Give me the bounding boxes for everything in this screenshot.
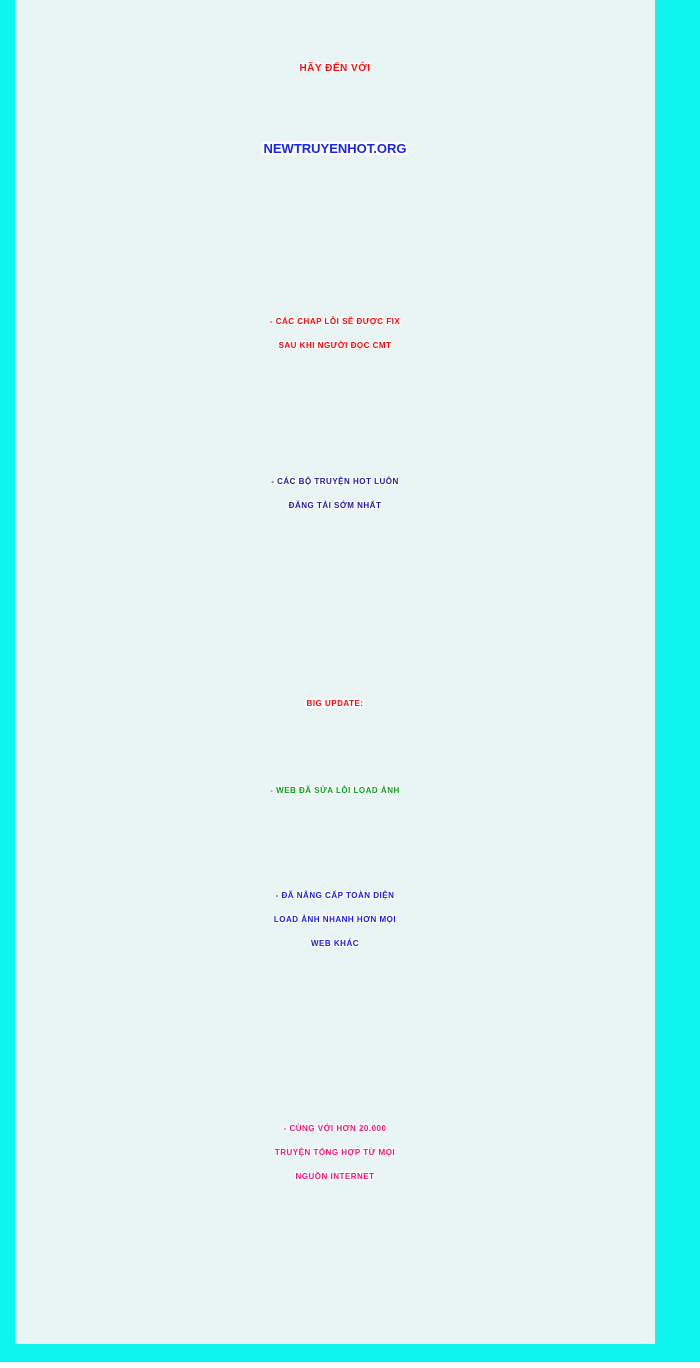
update-blue-block: - ĐÃ NÂNG CẤP TOÀN DIỆN LOAD ẢNH NHANH H… <box>15 892 655 964</box>
update-pink-line-2: TRUYỆN TỔNG HỢP TỪ MỌI <box>15 1149 655 1157</box>
notice-navy-line-2: ĐĂNG TẢI SỚM NHẤT <box>15 502 655 510</box>
headline-text: HÃY ĐẾN VỚI <box>15 64 655 74</box>
notice-red-line-2: SAU KHI NGƯỜI ĐỌC CMT <box>15 342 655 350</box>
update-blue-line-1: - ĐÃ NÂNG CẤP TOÀN DIỆN <box>15 892 655 900</box>
right-accent-bar <box>655 0 700 1362</box>
update-blue-line-2: LOAD ẢNH NHANH HƠN MỌI <box>15 916 655 924</box>
update-green-block: - WEB ĐÃ SỬA LỖI LOAD ẢNH <box>15 787 655 795</box>
update-blue-line-3: WEB KHÁC <box>15 940 655 948</box>
big-update-title: BIG UPDATE: <box>15 700 655 708</box>
update-pink-block: - CÙNG VỚI HƠN 20.000 TRUYỆN TỔNG HỢP TỪ… <box>15 1125 655 1197</box>
notice-navy-line-1: - CÁC BỘ TRUYỆN HOT LUÔN <box>15 478 655 486</box>
update-pink-line-3: NGUỒN INTERNET <box>15 1173 655 1181</box>
notice-red-line-1: - CÁC CHAP LỖI SẼ ĐƯỢC FIX <box>15 318 655 326</box>
update-pink-line-1: - CÙNG VỚI HƠN 20.000 <box>15 1125 655 1133</box>
update-green-line-1: - WEB ĐÃ SỬA LỖI LOAD ẢNH <box>15 787 655 795</box>
left-accent-bar <box>0 0 15 1362</box>
notice-navy-block: - CÁC BỘ TRUYỆN HOT LUÔN ĐĂNG TẢI SỚM NH… <box>15 478 655 526</box>
site-name-link[interactable]: NEWTRUYENHOT.ORG <box>15 142 655 155</box>
poster-content: HÃY ĐẾN VỚI NEWTRUYENHOT.ORG - CÁC CHAP … <box>15 0 655 1344</box>
promo-poster: HÃY ĐẾN VỚI NEWTRUYENHOT.ORG - CÁC CHAP … <box>0 0 700 1368</box>
bottom-accent-bar <box>0 1344 700 1362</box>
notice-red-block: - CÁC CHAP LỖI SẼ ĐƯỢC FIX SAU KHI NGƯỜI… <box>15 318 655 366</box>
